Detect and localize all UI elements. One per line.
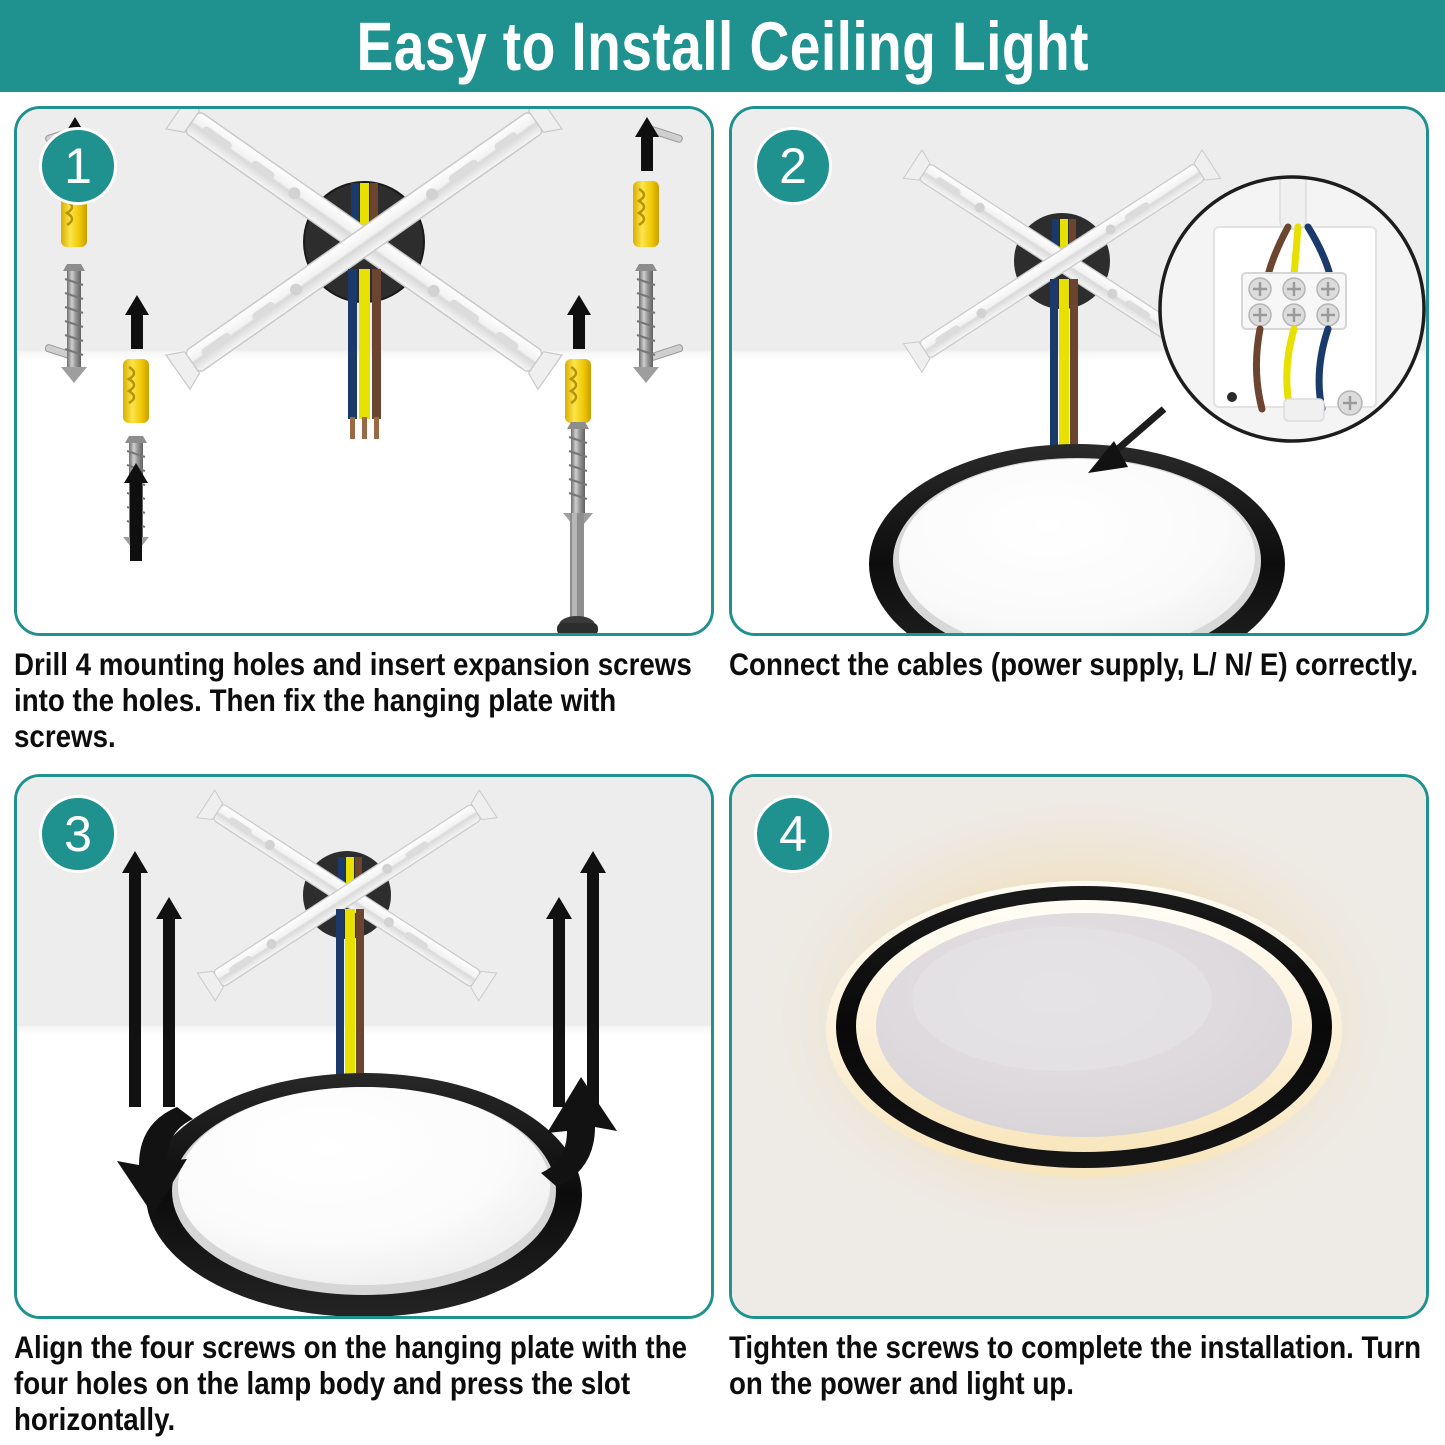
step-2-caption: Connect the cables (power supply, L/ N/ … xyxy=(729,646,1425,682)
step-3-badge: 3 xyxy=(39,795,117,873)
step-4-caption: Tighten the screws to complete the insta… xyxy=(729,1329,1425,1401)
step-4-panel: 4 xyxy=(729,774,1429,1319)
rotation-arrow-right xyxy=(541,1077,617,1187)
header-banner: Easy to Install Ceiling Light xyxy=(0,0,1445,92)
step-3-panel: 3 xyxy=(14,774,714,1319)
page-title: Easy to Install Ceiling Light xyxy=(356,12,1088,81)
screwdriver-and-hand xyxy=(501,513,633,633)
wire-bundle-bottom xyxy=(348,269,381,439)
step-3-cell: 3 Align the four screws on the hanging p… xyxy=(14,774,714,1429)
anchor-screw-set-top-right xyxy=(633,117,659,383)
infographic-page: Easy to Install Ceiling Light xyxy=(0,0,1445,1445)
step-1-illustration xyxy=(17,109,711,633)
step-1-caption: Drill 4 mounting holes and insert expans… xyxy=(14,646,710,754)
step-2-cell: 2 Connect the cables (power supply, L/ N… xyxy=(729,106,1429,746)
step-1-panel: 1 xyxy=(14,106,714,636)
lamp-body-2 xyxy=(869,444,1285,633)
step-2-badge: 2 xyxy=(754,127,832,205)
step-3-illustration xyxy=(17,777,711,1316)
anchor-screw-set-bottom-left xyxy=(123,295,149,561)
step-4-illustration xyxy=(732,777,1426,1316)
magnifier-callout xyxy=(1160,167,1424,441)
step-4-badge: 4 xyxy=(754,795,832,873)
lamp-body-3 xyxy=(146,1073,582,1316)
step-3-caption: Align the four screws on the hanging pla… xyxy=(14,1329,710,1437)
steps-grid: 1 Drill 4 mounting holes and insert expa… xyxy=(0,92,1445,1445)
step-2-panel: 2 xyxy=(729,106,1429,636)
anchor-screw-set-bottom-right xyxy=(563,295,593,531)
step-1-badge: 1 xyxy=(39,127,117,205)
installed-lamp xyxy=(826,881,1342,1177)
step-1-cell: 1 Drill 4 mounting holes and insert expa… xyxy=(14,106,714,746)
step-4-cell: 4 Tighten the screws to complete the ins… xyxy=(729,774,1429,1429)
step-2-illustration xyxy=(732,109,1426,633)
